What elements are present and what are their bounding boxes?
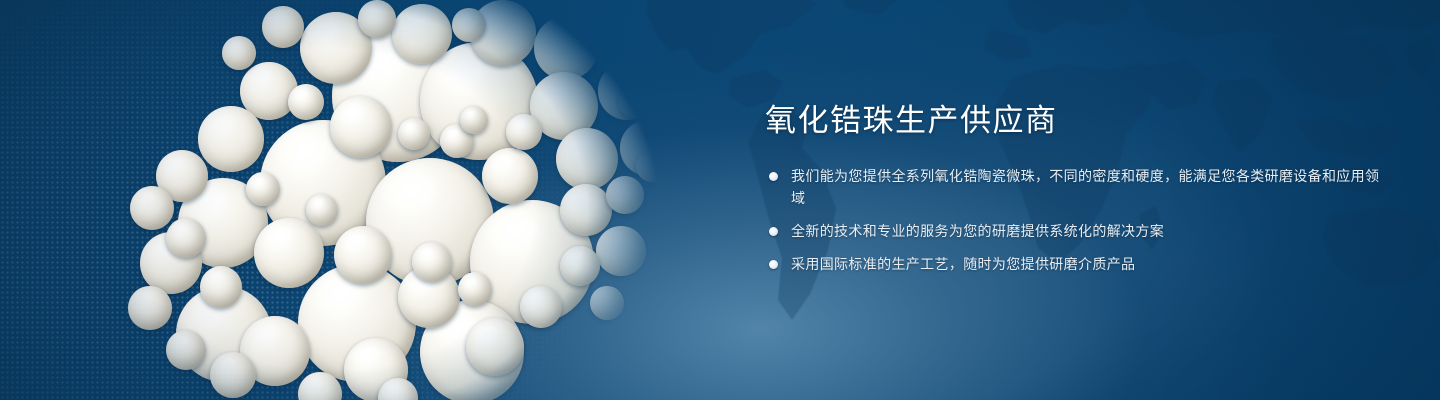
page-title: 氧化锆珠生产供应商 [765,104,1385,139]
list-item-text: 我们能为您提供全系列氧化锆陶瓷微珠，不同的密度和硬度，能满足您各类研磨设备和应用… [791,168,1379,206]
list-item-text: 采用国际标准的生产工艺，随时为您提供研磨介质产品 [791,256,1135,272]
zirconia-beads-photo [0,0,760,400]
bullet-dot-icon [769,227,778,236]
feature-list: 我们能为您提供全系列氧化锆陶瓷微珠，不同的密度和硬度，能满足您各类研磨设备和应用… [765,165,1385,275]
list-item: 我们能为您提供全系列氧化锆陶瓷微珠，不同的密度和硬度，能满足您各类研磨设备和应用… [765,165,1385,209]
banner-copy: 氧化锆珠生产供应商 我们能为您提供全系列氧化锆陶瓷微珠，不同的密度和硬度，能满足… [765,104,1385,275]
list-item: 采用国际标准的生产工艺，随时为您提供研磨介质产品 [765,253,1385,275]
list-item: 全新的技术和专业的服务为您的研磨提供系统化的解决方案 [765,220,1385,242]
bullet-dot-icon [769,172,778,181]
bullet-dot-icon [769,260,778,269]
hero-banner: 氧化锆珠生产供应商 我们能为您提供全系列氧化锆陶瓷微珠，不同的密度和硬度，能满足… [0,0,1440,400]
list-item-text: 全新的技术和专业的服务为您的研磨提供系统化的解决方案 [791,223,1164,239]
